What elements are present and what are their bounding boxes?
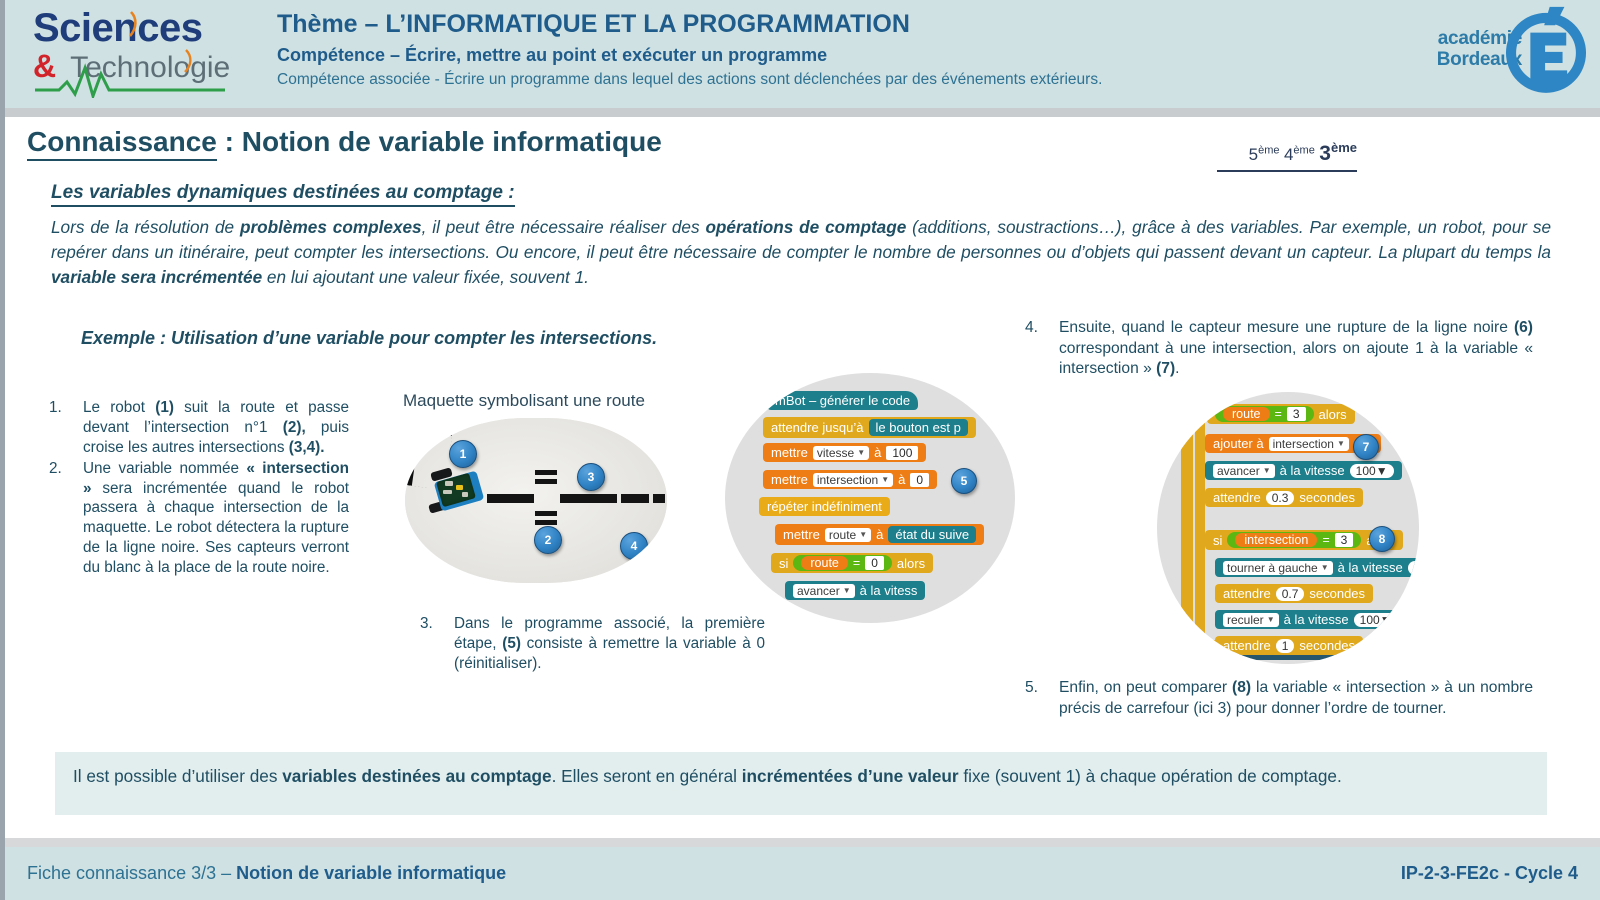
step3-number: 3. [420, 614, 446, 634]
value-wait-03[interactable]: 0.3 [1266, 491, 1295, 505]
road-segment-2 [560, 494, 617, 503]
dropdown-tourner-gauche[interactable]: tourner à gauche▼ [1223, 561, 1333, 575]
step4-ref-1: (6) [1514, 319, 1533, 336]
level-4eme: 4ème [1284, 145, 1315, 164]
scratch-code-right: route = 3 alors 6 ajouter à intersection… [1157, 392, 1419, 664]
footer-sheet-label: Fiche connaissance 3/3 – [27, 863, 236, 883]
logo-orange-accent2-icon [181, 48, 195, 74]
condition-route-equals-3[interactable]: route = 3 [1215, 406, 1314, 422]
block-avancer[interactable]: avancer▼ à la vitess [785, 581, 925, 600]
step5-number: 5. [1025, 678, 1051, 699]
intro-frag-1: Lors de la résolution de [51, 217, 240, 237]
block-wait-until[interactable]: attendre jusqu’à le bouton est p [763, 417, 976, 438]
chevron-down-icon: ▼ [1263, 466, 1271, 475]
intro-section: Les variables dynamiques destinées au co… [51, 182, 1551, 290]
footer-sheet-title: Notion de variable informatique [236, 863, 506, 883]
value-vitesse-avancer[interactable]: 100▼ [1350, 464, 1394, 478]
block-wait-03[interactable]: attendre 0.3 secondes [1205, 488, 1363, 507]
dropdown-vitesse[interactable]: vitesse▼ [813, 446, 869, 460]
page-title: Connaissance : Notion de variable inform… [27, 126, 662, 158]
step4-frag-2: correspondant à une intersection, alors … [1059, 340, 1533, 378]
value-wait-1[interactable]: 1 [1276, 639, 1295, 653]
robot-route-photo: 1 2 3 4 [405, 418, 667, 583]
value-route-3[interactable]: 3 [1287, 407, 1306, 421]
step2-frag-2: sera incrémentée quand le robot passera … [83, 480, 349, 577]
road-segment-1 [487, 494, 534, 503]
crossing-tick-1 [535, 470, 557, 475]
condition-intersection-equals-3[interactable]: intersection = 3 [1227, 532, 1361, 548]
list-item-step4: 4.Ensuite, quand le capteur mesure une r… [1025, 318, 1533, 381]
academie-e-emblem-icon [1500, 5, 1592, 97]
page-title-keyword: Connaissance [27, 126, 217, 161]
crossing-tick-4 [535, 520, 557, 525]
var-route-right[interactable]: route [1223, 407, 1270, 421]
summary-frag-1: Il est possible d’utiliser des [73, 766, 282, 786]
page-footer: Fiche connaissance 3/3 – Notion de varia… [5, 847, 1600, 900]
header-text-group: Thème – L’INFORMATIQUE ET LA PROGRAMMATI… [255, 0, 1370, 108]
robot-chip-3 [443, 490, 452, 494]
footer-divider [5, 838, 1600, 847]
page-header: Sciences & Technologie Thème – L’INFORMA… [5, 0, 1600, 108]
photo-caption: Maquette symbolisant une route [403, 391, 645, 411]
block-if-route-3[interactable]: route = 3 alors [1207, 404, 1355, 424]
robot-chip-1 [445, 481, 453, 486]
step2-number: 2. [49, 459, 75, 479]
dropdown-reculer[interactable]: reculer▼ [1223, 613, 1279, 627]
level-5eme: 5ème [1249, 145, 1280, 164]
photo-marker-2: 2 [534, 526, 562, 554]
chevron-down-icon: ▼ [857, 448, 865, 457]
intro-bold-3: variable sera incrémentée [51, 267, 262, 287]
photo-marker-4: 4 [620, 532, 648, 560]
value-vitesse-reculer[interactable]: 100▼ [1354, 613, 1398, 627]
step4-ref-2: (7) [1156, 360, 1175, 377]
academie-bordeaux-logo: académie Bordeaux [1370, 0, 1600, 108]
footer-left: Fiche connaissance 3/3 – Notion de varia… [27, 863, 506, 884]
step1-ref-3: (3,4). [289, 439, 325, 456]
step5-ref-1: (8) [1232, 679, 1251, 696]
block-turn-left[interactable]: tourner à gauche▼ à la vitesse 100▼ [1215, 558, 1419, 577]
grade-levels-indicator: 5ème 4ème 3ème [1217, 140, 1357, 172]
var-intersection-right[interactable]: intersection [1235, 533, 1317, 547]
road-segment-4 [653, 494, 665, 503]
intro-paragraph: Lors de la résolution de problèmes compl… [51, 215, 1551, 290]
sciences-technologie-logo: Sciences & Technologie [5, 0, 255, 108]
step5-frag-1: Enfin, on peut comparer [1059, 679, 1232, 696]
summary-frag-2: . Elles seront en général [552, 766, 742, 786]
header-divider [5, 108, 1600, 117]
example-heading: Exemple : Utilisation d’une variable pou… [81, 328, 657, 349]
crossing-tick-3 [535, 511, 557, 516]
road-segment-3 [621, 494, 649, 503]
intro-bold-2: opérations de comptage [705, 217, 906, 237]
header-competence-associee: Compétence associée - Écrire un programm… [277, 71, 1370, 90]
scratch-code-left: mBot – générer le code attendre jusqu’à … [725, 373, 1015, 623]
photo-marker-3: 3 [577, 463, 605, 491]
step2-frag-1: Une variable nommée [83, 460, 246, 477]
chevron-down-icon: ▼ [1321, 563, 1329, 572]
left-steps-list: 1.Le robot (1) suit la route et passe de… [49, 398, 349, 579]
code-marker-8: 8 [1369, 526, 1395, 552]
value-route-compare[interactable]: 0 [865, 556, 884, 570]
mbot-robot [429, 468, 487, 514]
worksheet-page: Sciences & Technologie Thème – L’INFORMA… [0, 0, 1600, 900]
code-marker-7: 7 [1353, 434, 1379, 460]
step4-frag-1: Ensuite, quand le capteur mesure une rup… [1059, 319, 1514, 336]
code-marker-6: 6 [1159, 400, 1185, 426]
value-wait-07[interactable]: 0.7 [1276, 587, 1305, 601]
summary-bold-1: variables destinées au comptage [282, 766, 551, 786]
list-item-step2: 2.Une variable nommée « intersection » s… [49, 459, 349, 578]
list-item-step3: 3.Dans le programme associé, la première… [420, 614, 765, 676]
value-vitesse[interactable]: 100 [886, 446, 918, 460]
block-mbot-generate[interactable]: mBot – générer le code [767, 391, 918, 410]
value-vitesse-gauche[interactable]: 100▼ [1408, 561, 1419, 575]
photo-marker-1: 1 [449, 440, 477, 468]
dropdown-avancer-right[interactable]: avancer▼ [1213, 464, 1275, 478]
dropdown-intersection[interactable]: intersection▼ [813, 473, 893, 487]
logo-sciences-label: Sciences [33, 6, 202, 50]
level-3eme-current: 3ème [1319, 142, 1357, 165]
chevron-down-icon: ▼ [881, 475, 889, 484]
intro-frag-4: en lui ajoutant une valeur fixée, souven… [262, 267, 589, 287]
intro-frag-2: , il peut être nécessaire réaliser des [422, 217, 706, 237]
title-row: Connaissance : Notion de variable inform… [5, 126, 1600, 172]
summary-bold-2: incrémentées d’une valeur [742, 766, 959, 786]
footer-reference-code: IP-2-3-FE2c - Cycle 4 [1401, 863, 1578, 884]
header-theme: Thème – L’INFORMATIQUE ET LA PROGRAMMATI… [277, 10, 1370, 40]
step1-ref-1: (1) [155, 399, 174, 416]
header-competence: Compétence – Écrire, mettre au point et … [277, 45, 1370, 67]
var-route[interactable]: route [801, 556, 848, 570]
step1-number: 1. [49, 398, 75, 418]
block-wait-07[interactable]: attendre 0.7 secondes [1215, 584, 1373, 603]
block-set-intersection[interactable]: mettre intersection▼ à 0 [763, 470, 937, 489]
block-reculer[interactable]: reculer▼ à la vitesse 100▼ [1215, 610, 1406, 629]
logo-orange-accent-icon [125, 10, 139, 38]
step3-ref-1: (5) [502, 635, 521, 652]
chevron-down-icon: ▼ [1380, 613, 1392, 627]
chevron-down-icon: ▼ [1337, 439, 1345, 448]
intro-heading: Les variables dynamiques destinées au co… [51, 182, 515, 207]
dropdown-intersection-right[interactable]: intersection▼ [1269, 437, 1349, 451]
list-item-step1: 1.Le robot (1) suit la route et passe de… [49, 398, 349, 458]
block-repeat-forever[interactable]: répéter indéfiniment [759, 497, 890, 516]
page-title-rest: : Notion de variable informatique [217, 126, 662, 157]
condition-route-equals[interactable]: route = 0 [793, 555, 892, 571]
value-intersection-3[interactable]: 3 [1335, 533, 1354, 547]
c-block-spine-outer [1181, 402, 1193, 652]
block-avancer-vitesse[interactable]: avancer▼ à la vitesse 100▼ [1205, 461, 1402, 480]
logo-sciences-text: Sciences [33, 8, 255, 48]
intro-bold-1: problèmes complexes [240, 217, 422, 237]
robot-chip-2 [456, 485, 463, 490]
step1-frag-1: Le robot [83, 399, 155, 416]
crossing-tick-2 [535, 479, 557, 484]
chevron-down-icon: ▼ [843, 586, 851, 595]
block-set-route[interactable]: mettre route▼ à état du suive [775, 524, 984, 545]
step4-frag-3: . [1175, 360, 1179, 377]
reporter-etat-suiveur[interactable]: état du suive [888, 526, 976, 543]
dropdown-route[interactable]: route▼ [825, 528, 871, 542]
block-if-route[interactable]: si route = 0 alors [771, 553, 933, 573]
block-wait-1[interactable]: attendre 1 secondes [1215, 636, 1363, 655]
summary-box: Il est possible d’utiliser des variables… [55, 752, 1547, 815]
summary-frag-3: fixe (souvent 1) à chaque opération de c… [959, 766, 1342, 786]
chevron-down-icon: ▼ [1376, 464, 1388, 478]
block-button-pressed-reporter[interactable]: le bouton est p [869, 419, 968, 436]
ecg-wave-icon [35, 60, 225, 98]
dropdown-avancer[interactable]: avancer▼ [793, 584, 855, 598]
step4-number: 4. [1025, 318, 1051, 339]
code-marker-5: 5 [951, 468, 977, 494]
value-intersection[interactable]: 0 [910, 473, 929, 487]
c-block-spine-inner [1195, 406, 1205, 646]
chevron-down-icon: ▼ [1267, 615, 1275, 624]
robot-chip-4 [462, 492, 468, 497]
block-set-vitesse[interactable]: mettre vitesse▼ à 100 [763, 443, 926, 462]
step1-ref-2: (2), [283, 419, 306, 436]
list-item-step5: 5.Enfin, on peut comparer (8) la variabl… [1025, 678, 1533, 720]
chevron-down-icon: ▼ [859, 530, 867, 539]
